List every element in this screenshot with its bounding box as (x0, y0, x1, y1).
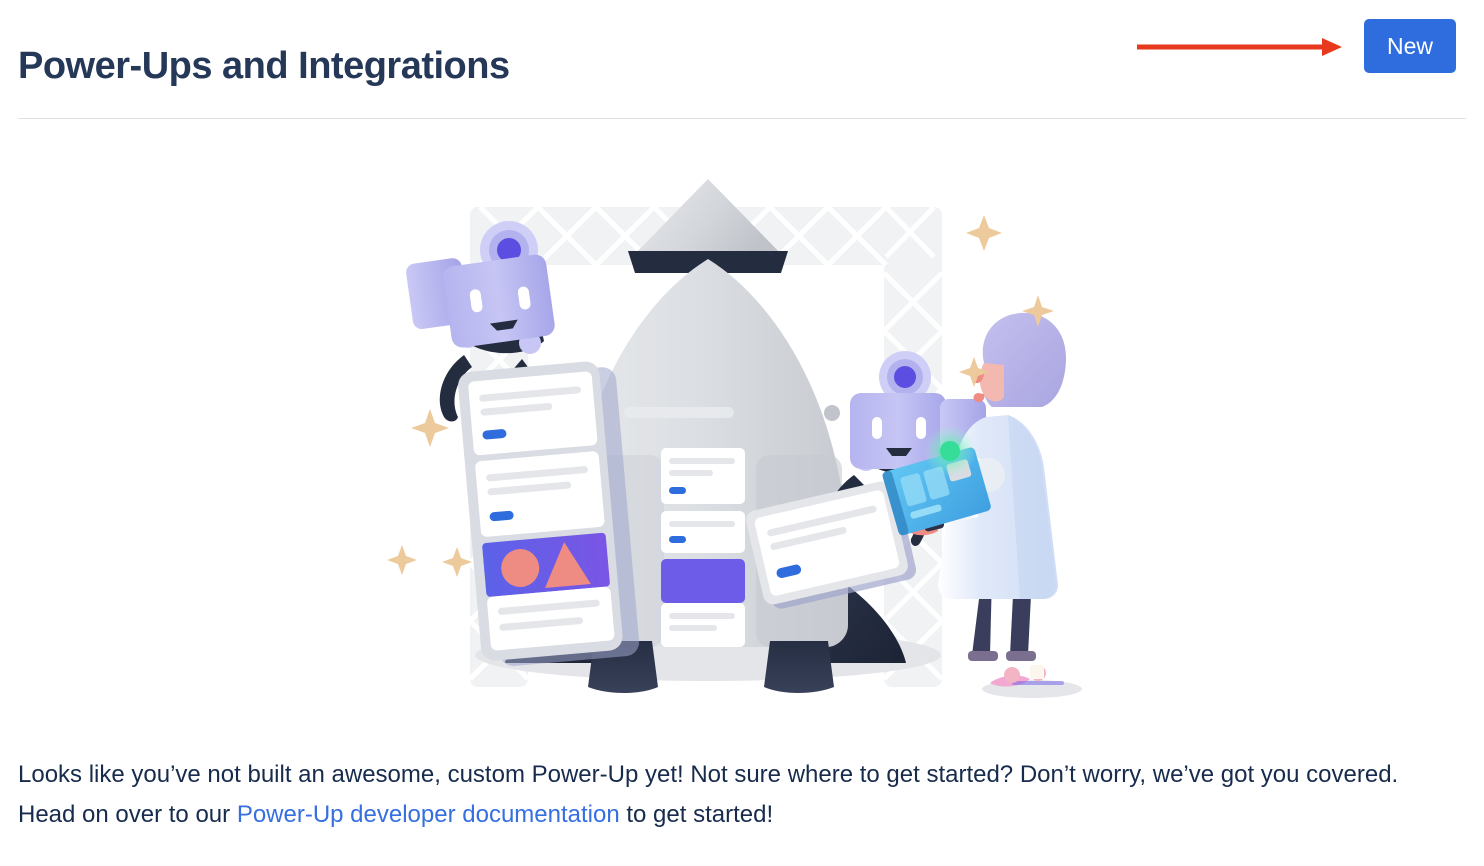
rocket-illustration-icon (372, 155, 1112, 735)
new-button[interactable]: New (1364, 19, 1456, 73)
empty-state-description: Looks like you’ve not built an awesome, … (18, 755, 1438, 835)
rocket-window-cards (661, 448, 745, 647)
empty-state-illustration (0, 140, 1484, 750)
page-header: Power-Ups and Integrations New (0, 0, 1484, 120)
rocket-highlight (624, 407, 734, 418)
rocket-rivet (824, 405, 840, 421)
scientist-lips (974, 393, 985, 402)
rocket-leg-right (764, 641, 834, 693)
header-divider (18, 118, 1466, 119)
page-title: Power-Ups and Integrations (18, 40, 510, 92)
annotation-arrow-icon (1137, 36, 1342, 58)
robot-right-eye-b (916, 417, 926, 439)
sparkle-icon (387, 545, 417, 575)
power-up-developer-documentation-link[interactable]: Power-Up developer documentation (237, 801, 620, 828)
sparkle-icon (966, 215, 1002, 251)
description-text-after-link: to get started! (620, 801, 773, 828)
robot-left-head (442, 253, 556, 349)
card-stack-left (457, 359, 640, 669)
robot-right-eye-a (872, 417, 882, 439)
sparkle-icon (442, 547, 472, 577)
